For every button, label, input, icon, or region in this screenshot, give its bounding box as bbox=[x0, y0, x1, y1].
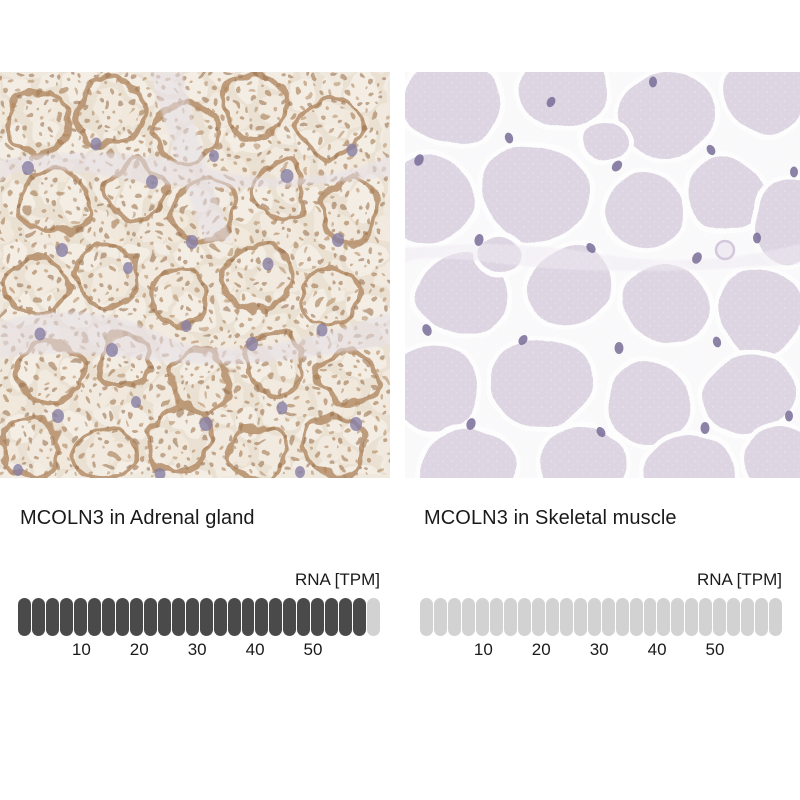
gauge-segment bbox=[462, 598, 475, 636]
gauge-segment bbox=[699, 598, 712, 636]
gauge-tick-label: 50 bbox=[304, 638, 323, 662]
gauge-segment bbox=[657, 598, 670, 636]
caption-adrenal-gland: MCOLN3 in Adrenal gland bbox=[20, 505, 255, 531]
gauge-segment bbox=[560, 598, 573, 636]
caption-skeletal-muscle: MCOLN3 in Skeletal muscle bbox=[424, 505, 677, 531]
gauge-segment bbox=[671, 598, 684, 636]
gauge-segment bbox=[434, 598, 447, 636]
gauge-segment bbox=[228, 598, 241, 636]
gauge-tick-label: 30 bbox=[188, 638, 207, 662]
gauge-segment bbox=[46, 598, 59, 636]
gauge-segment bbox=[532, 598, 545, 636]
gauge-segment bbox=[283, 598, 296, 636]
gauge-segment bbox=[186, 598, 199, 636]
gauge-segment bbox=[741, 598, 754, 636]
rna-gauge-bar[interactable] bbox=[18, 598, 380, 636]
gauge-segment bbox=[269, 598, 282, 636]
gauge-segment bbox=[130, 598, 143, 636]
gauge-segment bbox=[102, 598, 115, 636]
gauge-segment bbox=[518, 598, 531, 636]
rna-gauge-adrenal-gland: RNA [TPM] 1020304050 bbox=[18, 570, 380, 664]
gauge-segment bbox=[420, 598, 433, 636]
gauge-segment bbox=[685, 598, 698, 636]
gauge-segment bbox=[574, 598, 587, 636]
gauge-tick-label: 20 bbox=[130, 638, 149, 662]
gauge-segment bbox=[769, 598, 782, 636]
gauge-segment bbox=[88, 598, 101, 636]
micrograph-panel-skeletal-muscle[interactable] bbox=[405, 72, 800, 478]
gauge-segment bbox=[255, 598, 268, 636]
gauge-segment bbox=[116, 598, 129, 636]
gauge-segment bbox=[755, 598, 768, 636]
gauge-tick-label: 30 bbox=[590, 638, 609, 662]
hpa-tissue-comparison-figure: MCOLN3 in Adrenal gland MCOLN3 in Skelet… bbox=[0, 0, 800, 800]
gauge-tick-label: 10 bbox=[474, 638, 493, 662]
adrenal-gland-ihc-image bbox=[0, 72, 390, 478]
gauge-segment bbox=[630, 598, 643, 636]
gauge-segment bbox=[339, 598, 352, 636]
gauge-segment bbox=[60, 598, 73, 636]
rna-gauge-ticks: 1020304050 bbox=[18, 638, 380, 664]
gauge-segment bbox=[616, 598, 629, 636]
skeletal-muscle-ihc-image bbox=[405, 72, 800, 478]
gauge-tick-label: 40 bbox=[648, 638, 667, 662]
rna-gauge-bar[interactable] bbox=[420, 598, 782, 636]
gauge-segment bbox=[602, 598, 615, 636]
gauge-segment bbox=[200, 598, 213, 636]
gauge-segment bbox=[325, 598, 338, 636]
gauge-segment bbox=[353, 598, 366, 636]
gauge-segment bbox=[144, 598, 157, 636]
gauge-segment bbox=[297, 598, 310, 636]
gauge-segment bbox=[644, 598, 657, 636]
gauge-tick-label: 20 bbox=[532, 638, 551, 662]
micrograph-panel-row bbox=[0, 72, 800, 478]
gauge-segment bbox=[490, 598, 503, 636]
gauge-segment bbox=[74, 598, 87, 636]
gauge-segment bbox=[158, 598, 171, 636]
gauge-tick-label: 10 bbox=[72, 638, 91, 662]
gauge-segment bbox=[242, 598, 255, 636]
gauge-tick-label: 50 bbox=[706, 638, 725, 662]
gauge-segment bbox=[546, 598, 559, 636]
gauge-segment bbox=[214, 598, 227, 636]
rna-gauge-ticks: 1020304050 bbox=[420, 638, 782, 664]
gauge-segment bbox=[713, 598, 726, 636]
gauge-segment bbox=[727, 598, 740, 636]
gauge-segment bbox=[311, 598, 324, 636]
gauge-segment bbox=[504, 598, 517, 636]
rna-tpm-label: RNA [TPM] bbox=[18, 570, 380, 592]
rna-gauge-skeletal-muscle: RNA [TPM] 1020304050 bbox=[420, 570, 782, 664]
gauge-segment bbox=[18, 598, 31, 636]
gauge-segment bbox=[32, 598, 45, 636]
gauge-segment bbox=[172, 598, 185, 636]
rna-tpm-label: RNA [TPM] bbox=[420, 570, 782, 592]
micrograph-panel-adrenal-gland[interactable] bbox=[0, 72, 390, 478]
gauge-segment bbox=[476, 598, 489, 636]
gauge-segment bbox=[448, 598, 461, 636]
gauge-segment bbox=[367, 598, 380, 636]
gauge-segment bbox=[588, 598, 601, 636]
gauge-tick-label: 40 bbox=[246, 638, 265, 662]
